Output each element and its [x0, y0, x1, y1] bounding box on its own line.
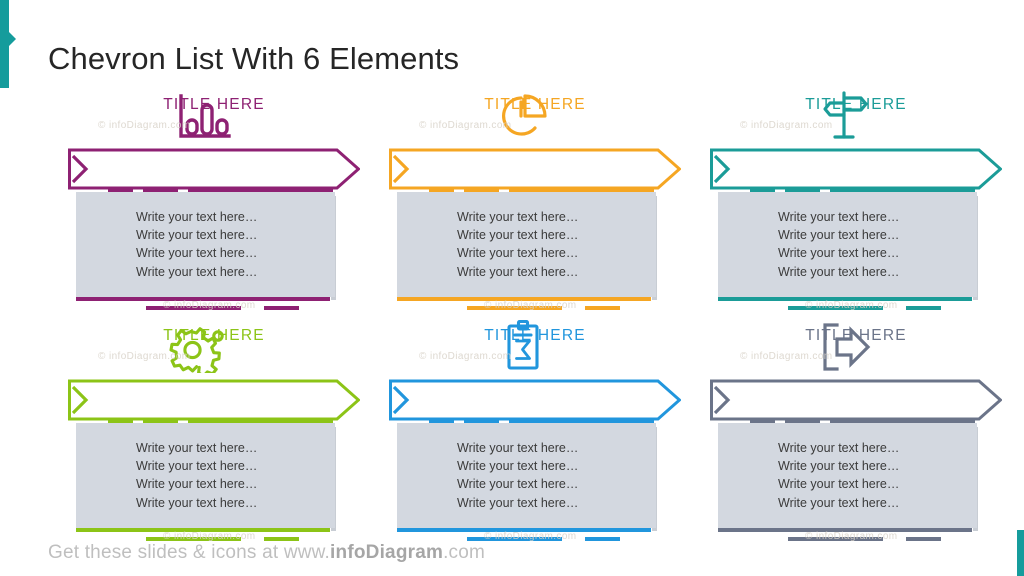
chevron-header-6[interactable] [710, 379, 1002, 421]
footer-brand: infoDiagram [330, 542, 443, 563]
chevron-card-5[interactable]: TITLE HEREWrite your text here…Write you… [389, 315, 689, 546]
card-body-line: Write your text here… [778, 226, 899, 244]
card-body-line: Write your text here… [136, 475, 257, 493]
card-bottom-rule-3 [718, 297, 980, 301]
card-body-line: Write your text here… [136, 439, 257, 457]
card-body-line: Write your text here… [778, 494, 899, 512]
rule-dash [146, 537, 241, 541]
card-bottom-rule-1 [76, 297, 338, 301]
chevron-header-4[interactable] [68, 379, 360, 421]
card-bottom-rule-2 [397, 297, 659, 301]
rule-dash [906, 306, 941, 310]
card-body-lines-5: Write your text here…Write your text her… [457, 439, 578, 512]
card-bottom-rule-5 [397, 528, 659, 532]
rule-dash [585, 306, 620, 310]
rule-dash [788, 537, 883, 541]
card-title-4: TITLE HERE [98, 315, 330, 357]
rule-dash [264, 537, 299, 541]
card-bottom-dashes-2 [389, 306, 681, 310]
card-row: TITLE HEREWrite your text here…Write you… [0, 84, 1024, 315]
rule-dash [264, 306, 299, 310]
card-title-6: TITLE HERE [740, 315, 972, 357]
footer-suffix: .com [443, 542, 485, 563]
card-body-line: Write your text here… [457, 475, 578, 493]
card-title-1: TITLE HERE [98, 84, 330, 126]
chevron-card-grid: TITLE HEREWrite your text here…Write you… [0, 84, 1024, 546]
card-title-3: TITLE HERE [740, 84, 972, 126]
card-body-line: Write your text here… [778, 263, 899, 281]
card-body-line: Write your text here… [778, 457, 899, 475]
card-body-line: Write your text here… [778, 208, 899, 226]
rule-dash [906, 537, 941, 541]
card-body-lines-4: Write your text here…Write your text her… [136, 439, 257, 512]
footer-credit: Get these slides & icons at www.infoDiag… [48, 542, 485, 564]
card-body-line: Write your text here… [457, 263, 578, 281]
card-body-line: Write your text here… [457, 208, 578, 226]
card-bottom-dashes-1 [68, 306, 360, 310]
card-body-line: Write your text here… [136, 226, 257, 244]
rule-dash [788, 306, 883, 310]
rule-dash [467, 306, 562, 310]
card-row: TITLE HEREWrite your text here…Write you… [0, 315, 1024, 546]
card-title-2: TITLE HERE [419, 84, 651, 126]
left-accent-chevron-icon [9, 32, 16, 46]
left-accent-bar [0, 0, 9, 88]
chevron-card-2[interactable]: TITLE HEREWrite your text here…Write you… [389, 84, 689, 315]
card-bottom-dashes-6 [710, 537, 1002, 541]
card-bottom-rule-4 [76, 528, 338, 532]
card-body-line: Write your text here… [136, 457, 257, 475]
card-body-lines-1: Write your text here…Write your text her… [136, 208, 257, 281]
card-body-line: Write your text here… [136, 494, 257, 512]
chevron-card-3[interactable]: TITLE HEREWrite your text here…Write you… [710, 84, 1010, 315]
card-bottom-rule-6 [718, 528, 980, 532]
chevron-header-5[interactable] [389, 379, 681, 421]
card-text-box-6[interactable]: Write your text here…Write your text her… [718, 423, 977, 528]
rule-dash [718, 297, 972, 301]
card-body-line: Write your text here… [457, 457, 578, 475]
chevron-card-6[interactable]: TITLE HEREWrite your text here…Write you… [710, 315, 1010, 546]
rule-dash [146, 306, 241, 310]
card-body-line: Write your text here… [136, 263, 257, 281]
card-body-lines-6: Write your text here…Write your text her… [778, 439, 899, 512]
card-text-box-2[interactable]: Write your text here…Write your text her… [397, 192, 656, 297]
card-body-line: Write your text here… [778, 244, 899, 262]
chevron-header-2[interactable] [389, 148, 681, 190]
page-title: Chevron List With 6 Elements [48, 41, 459, 77]
footer-prefix: Get these slides & icons at www. [48, 542, 330, 563]
rule-dash [397, 297, 651, 301]
card-body-line: Write your text here… [457, 494, 578, 512]
rule-dash [718, 528, 972, 532]
chevron-header-3[interactable] [710, 148, 1002, 190]
card-bottom-dashes-3 [710, 306, 1002, 310]
rule-dash [397, 528, 651, 532]
rule-dash [467, 537, 562, 541]
chevron-header-1[interactable] [68, 148, 360, 190]
chevron-card-1[interactable]: TITLE HEREWrite your text here…Write you… [68, 84, 368, 315]
card-body-line: Write your text here… [136, 244, 257, 262]
card-body-line: Write your text here… [457, 439, 578, 457]
card-text-box-3[interactable]: Write your text here…Write your text her… [718, 192, 977, 297]
card-body-lines-2: Write your text here…Write your text her… [457, 208, 578, 281]
rule-dash [76, 528, 330, 532]
card-text-box-4[interactable]: Write your text here…Write your text her… [76, 423, 335, 528]
card-text-box-1[interactable]: Write your text here…Write your text her… [76, 192, 335, 297]
card-title-5: TITLE HERE [419, 315, 651, 357]
card-body-lines-3: Write your text here…Write your text her… [778, 208, 899, 281]
rule-dash [76, 297, 330, 301]
card-body-line: Write your text here… [778, 439, 899, 457]
chevron-card-4[interactable]: TITLE HEREWrite your text here…Write you… [68, 315, 368, 546]
card-body-line: Write your text here… [457, 226, 578, 244]
card-bottom-dashes-5 [389, 537, 681, 541]
card-body-line: Write your text here… [136, 208, 257, 226]
card-body-line: Write your text here… [778, 475, 899, 493]
card-body-line: Write your text here… [457, 244, 578, 262]
card-text-box-5[interactable]: Write your text here…Write your text her… [397, 423, 656, 528]
rule-dash [585, 537, 620, 541]
card-bottom-dashes-4 [68, 537, 360, 541]
